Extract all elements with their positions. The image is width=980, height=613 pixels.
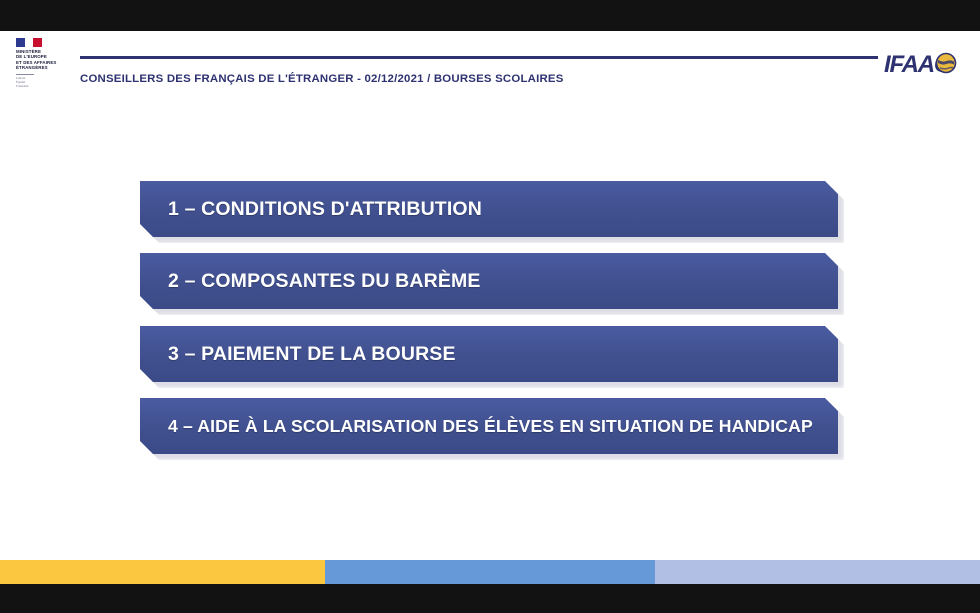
- agenda-item-1[interactable]: 1 – CONDITIONS D'ATTRIBUTION: [140, 181, 838, 237]
- agenda-list: 1 – CONDITIONS D'ATTRIBUTION 2 – COMPOSA…: [0, 31, 980, 584]
- footer-segment-light-blue: [655, 560, 980, 584]
- letterbox-bottom: [0, 584, 980, 613]
- agenda-item-4-label: 4 – AIDE À LA SCOLARISATION DES ÉLÈVES E…: [168, 416, 813, 437]
- slide-canvas: MINISTÈRE DE L'EUROPE ET DES AFFAIRES ÉT…: [0, 31, 980, 584]
- agenda-item-3-label: 3 – PAIEMENT DE LA BOURSE: [168, 343, 456, 366]
- agenda-item-4[interactable]: 4 – AIDE À LA SCOLARISATION DES ÉLÈVES E…: [140, 398, 838, 454]
- letterbox-top: [0, 0, 980, 31]
- agenda-item-2-label: 2 – COMPOSANTES DU BARÈME: [168, 270, 481, 293]
- footer-color-strip: [0, 560, 980, 584]
- agenda-item-1-label: 1 – CONDITIONS D'ATTRIBUTION: [168, 198, 482, 221]
- agenda-item-3[interactable]: 3 – PAIEMENT DE LA BOURSE: [140, 326, 838, 382]
- presentation-viewer: MINISTÈRE DE L'EUROPE ET DES AFFAIRES ÉT…: [0, 0, 980, 613]
- agenda-item-2[interactable]: 2 – COMPOSANTES DU BARÈME: [140, 253, 838, 309]
- footer-segment-gold: [0, 560, 325, 584]
- footer-segment-blue: [325, 560, 655, 584]
